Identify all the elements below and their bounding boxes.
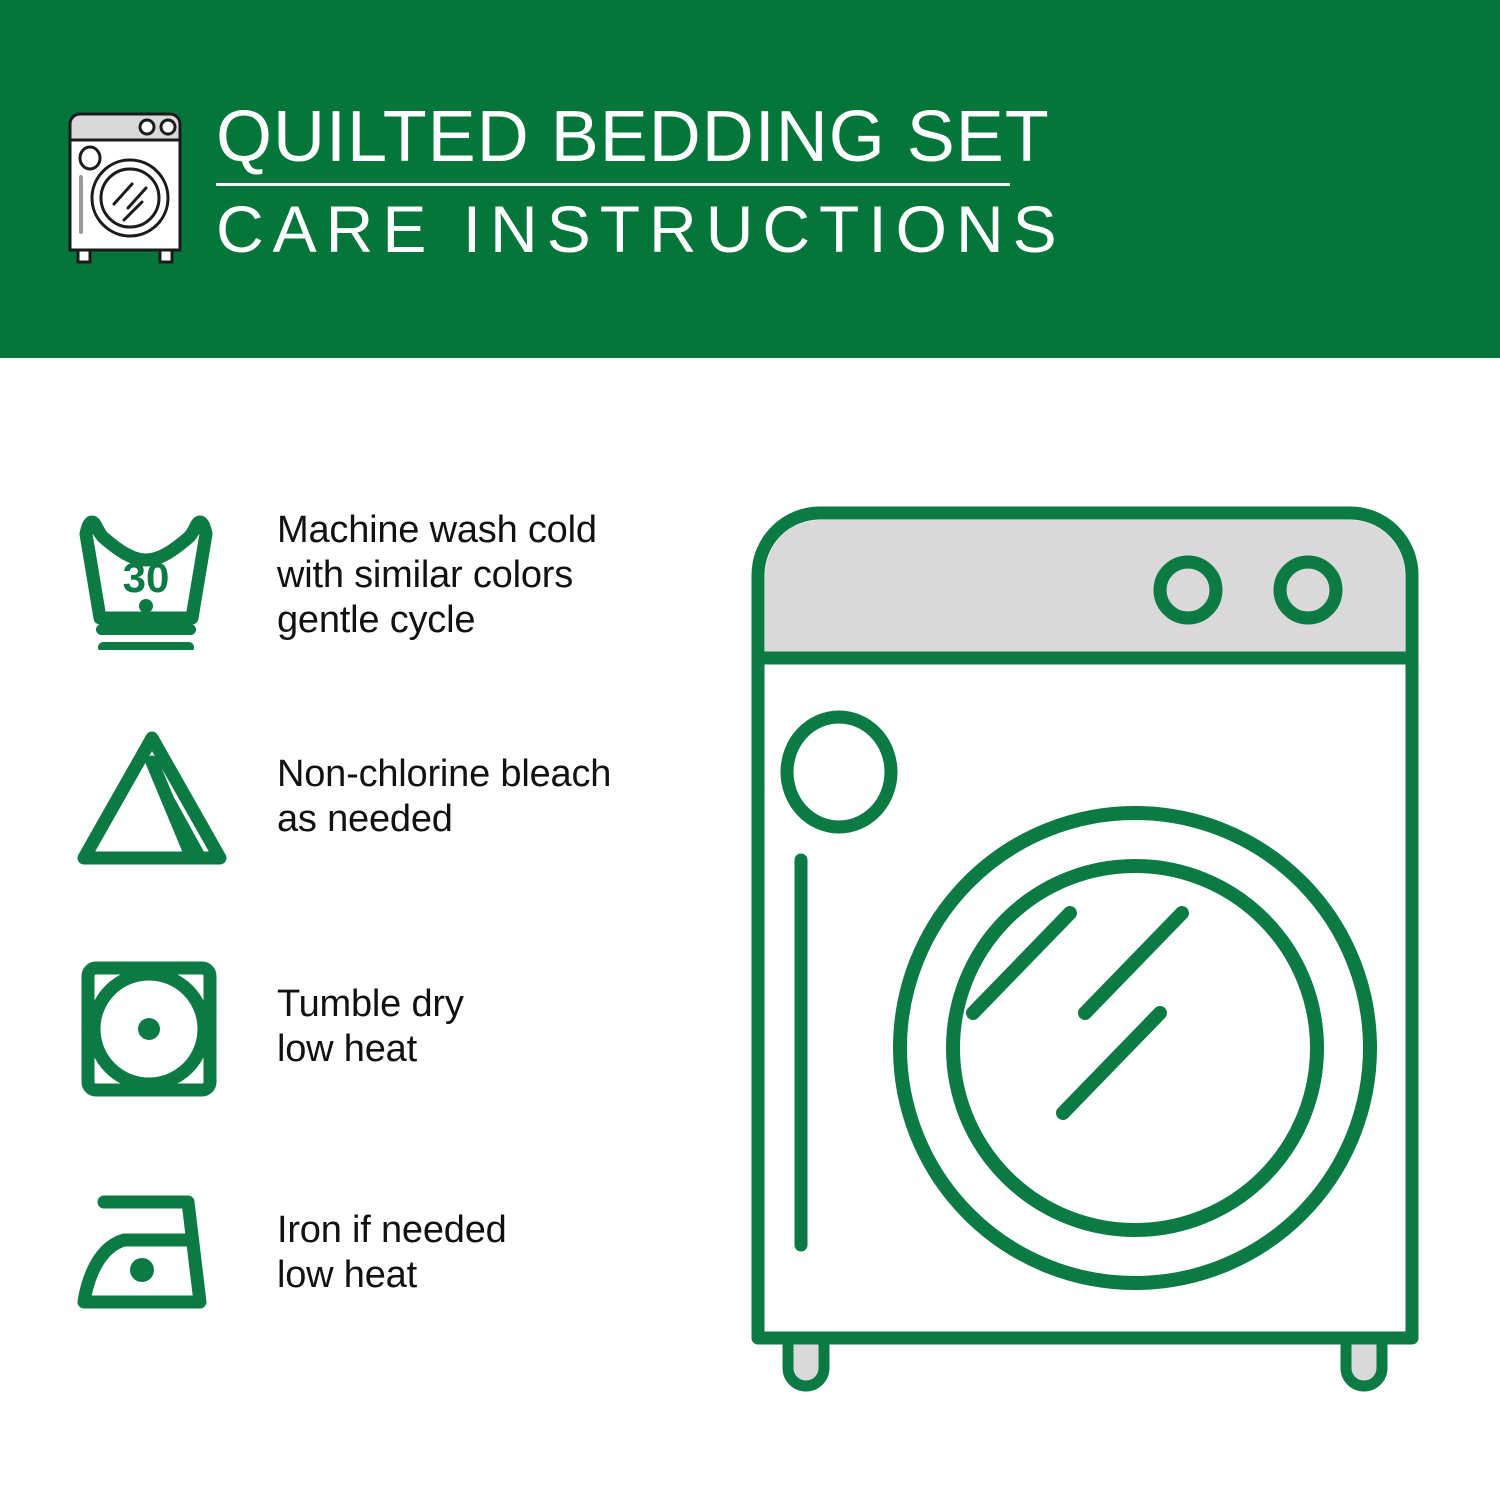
washing-machine-logo-icon [62, 104, 194, 264]
care-label-bleach: Non-chlorine bleach as needed [245, 752, 611, 842]
care-row-bleach: Non-chlorine bleach as needed [70, 722, 730, 872]
care-label-tumble-dry: Tumble dry low heat [245, 982, 464, 1072]
front-load-washing-machine-illustration [745, 500, 1455, 1415]
header-title-block: QUILTED BEDDING SET CARE INSTRUCTIONS [216, 98, 1016, 266]
care-row-iron: Iron if needed low heat [70, 1178, 730, 1328]
care-instructions-page: QUILTED BEDDING SET CARE INSTRUCTIONS 30… [0, 0, 1500, 1500]
care-row-tumble-dry: Tumble dry low heat [70, 952, 730, 1102]
care-label-machine-wash: Machine wash cold with similar colors ge… [245, 508, 597, 643]
page-subtitle: CARE INSTRUCTIONS [216, 192, 1016, 266]
title-divider [216, 183, 1010, 186]
header-banner: QUILTED BEDDING SET CARE INSTRUCTIONS [0, 0, 1500, 358]
non-chlorine-bleach-icon [70, 722, 245, 872]
machine-wash-30-gentle-icon: 30 [70, 500, 245, 650]
care-label-iron: Iron if needed low heat [245, 1208, 507, 1298]
tumble-dry-low-heat-icon [70, 952, 245, 1102]
iron-low-heat-icon [70, 1178, 245, 1328]
care-row-machine-wash: 30 Machine wash cold with similar colors… [70, 500, 730, 650]
page-title: QUILTED BEDDING SET [216, 98, 1016, 176]
svg-text:30: 30 [123, 554, 170, 601]
